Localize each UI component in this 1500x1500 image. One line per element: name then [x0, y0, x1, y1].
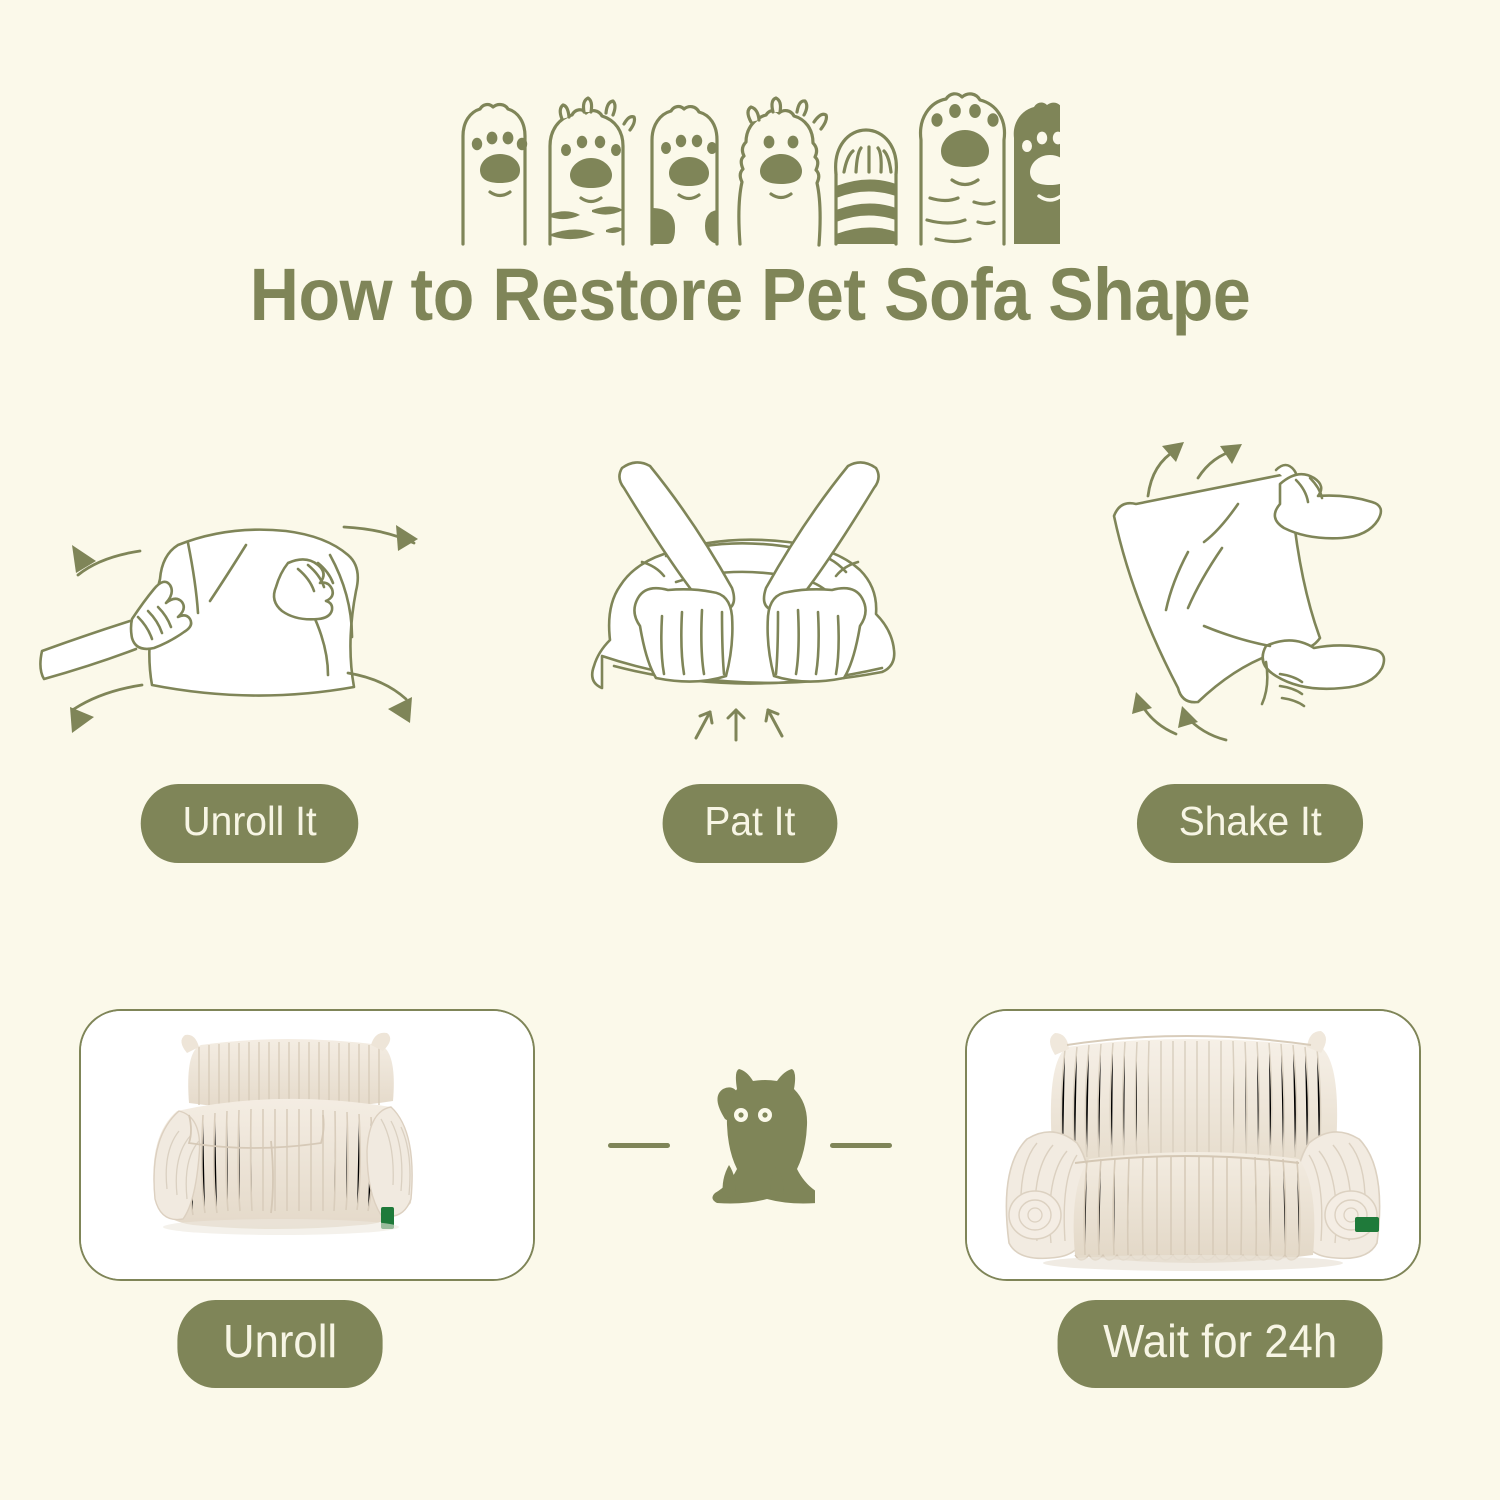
page-title: How to Restore Pet Sofa Shape: [60, 252, 1440, 337]
after-photo-card: [965, 1009, 1421, 1281]
comparison-label-wait-24h: Wait for 24h: [1057, 1300, 1382, 1388]
compressed-rolled-pet-sofa-photo: [81, 1011, 533, 1279]
paw-spotted: [652, 107, 717, 244]
step-pat-it: Pat It: [500, 430, 1000, 870]
comparison-row: [0, 1000, 1500, 1290]
paw-fluffy-claws: [739, 98, 827, 245]
infographic-page: How to Restore Pet Sofa Shape: [0, 0, 1500, 1500]
comparison-labels-row: Unroll Wait for 24h: [0, 1300, 1500, 1380]
two-hands-patting-cushion-icon: [500, 430, 1000, 770]
step-label-pat-it: Pat It: [663, 784, 838, 863]
dash-right: [830, 1143, 892, 1148]
comparison-separator: [535, 1011, 965, 1279]
paw-solid: [1014, 103, 1060, 244]
step-label-shake-it: Shake It: [1137, 784, 1364, 863]
hands-shaking-cushion-icon: [1000, 430, 1500, 770]
comparison-label-unroll: Unroll: [177, 1300, 382, 1388]
step-shake-it: Shake It: [1000, 430, 1500, 870]
step-unroll-it: Unroll It: [0, 430, 500, 870]
step-label-unroll-it: Unroll It: [141, 784, 359, 863]
sitting-cat-silhouette-icon: [670, 1065, 830, 1225]
hands-pulling-cushion-outward-icon: [0, 430, 500, 770]
paw-striped-claws: [550, 98, 635, 244]
dash-left: [608, 1143, 670, 1148]
cat-paws-row-icon: [0, 62, 1500, 247]
steps-row: Unroll It: [0, 430, 1500, 870]
brand-tag: [1355, 1217, 1379, 1232]
paw-zebra: [836, 130, 897, 244]
paw-plain: [463, 105, 527, 244]
paw-big-striped: [921, 94, 1005, 244]
after-label-slot: Wait for 24h: [940, 1300, 1500, 1388]
fully-restored-pet-sofa-photo: [967, 1011, 1419, 1279]
before-photo-card: [79, 1009, 535, 1281]
before-label-slot: Unroll: [0, 1300, 560, 1388]
